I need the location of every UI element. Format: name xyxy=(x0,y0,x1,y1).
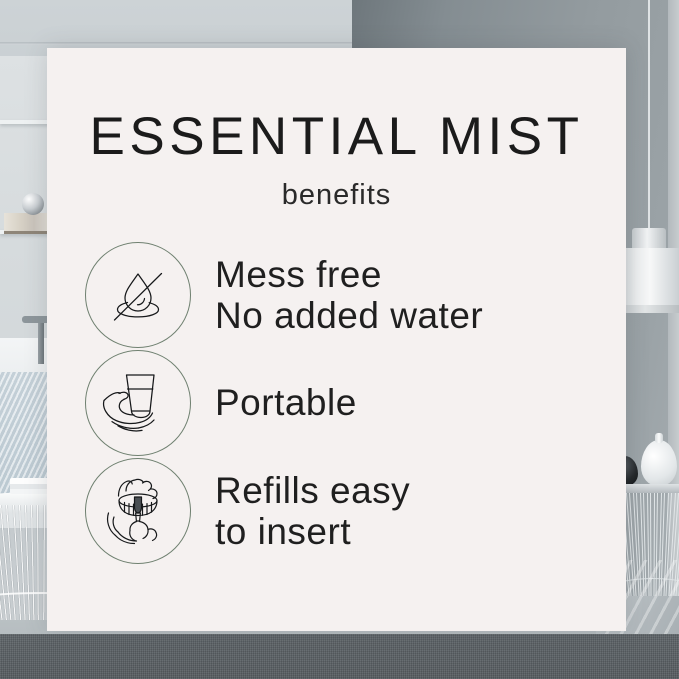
page-title: ESSENTIAL MIST xyxy=(47,110,626,163)
list-item: Portable xyxy=(85,350,626,456)
no-water-droplet-icon xyxy=(101,258,175,332)
benefit-icon-circle xyxy=(85,242,191,348)
benefits-list: Mess free No added water xyxy=(47,242,626,564)
screenshot-root: ESSENTIAL MIST benefits Mess free No add… xyxy=(0,0,679,679)
list-item: Mess free No added water xyxy=(85,242,626,348)
benefit-label: Portable xyxy=(215,382,357,423)
page-subtitle: benefits xyxy=(47,181,626,210)
white-vase xyxy=(641,440,677,486)
chair-leg xyxy=(38,322,44,364)
hands-inserting-refill-icon xyxy=(96,469,180,553)
area-rug xyxy=(0,634,679,679)
hand-holding-device-icon xyxy=(98,363,178,443)
benefit-icon-circle xyxy=(85,458,191,564)
benefits-card: ESSENTIAL MIST benefits Mess free No add… xyxy=(47,48,626,631)
benefit-label: Refills easy to insert xyxy=(215,470,410,553)
benefit-icon-circle xyxy=(85,350,191,456)
silver-sphere-decor xyxy=(22,193,44,215)
pendant-lamp-neck xyxy=(632,228,666,250)
list-item: Refills easy to insert xyxy=(85,458,626,564)
wall-seam xyxy=(0,42,352,45)
pendant-lamp-cord xyxy=(648,0,650,230)
benefit-label: Mess free No added water xyxy=(215,254,483,337)
